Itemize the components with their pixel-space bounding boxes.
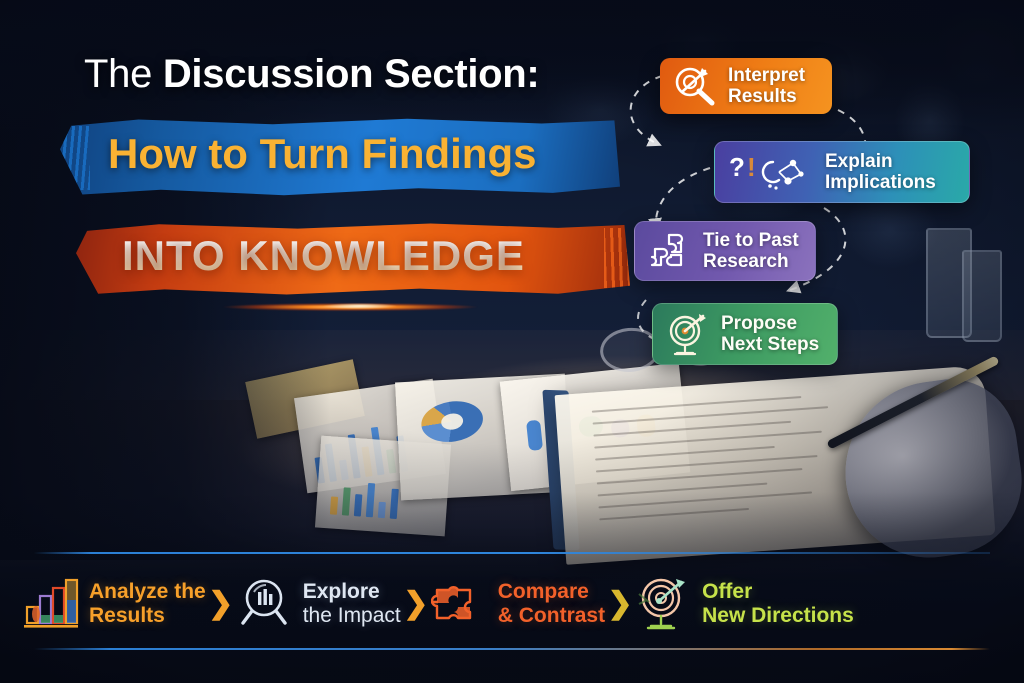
flow-card-explain-implications[interactable]: ? ! Explain Implications — [714, 141, 970, 203]
flow-card-line1: Tie to Past — [703, 230, 799, 251]
puzzle-pieces-icon — [647, 229, 693, 273]
step-analyze-the-results[interactable]: Analyze the Results — [22, 574, 206, 634]
step-separator-chevron: ❯ — [401, 589, 431, 619]
title-discussion-section: Discussion Section: — [163, 52, 540, 96]
puzzle-icon — [431, 574, 489, 634]
bar-chart-icon — [22, 574, 80, 634]
question-exclamation-network-icon: ? ! — [727, 150, 815, 194]
step-line1: Compare — [498, 580, 605, 604]
flow-card-line1: Interpret — [728, 65, 805, 86]
target-arrow-icon — [635, 574, 693, 634]
step-separator-chevron: ❯ — [206, 589, 236, 619]
process-step-bar: Analyze the Results ❯ Explore the Imp — [22, 562, 1006, 646]
step-line1: Offer — [702, 580, 854, 604]
magnifier-bars-icon — [236, 574, 294, 634]
step-line1: Analyze the — [89, 580, 206, 604]
flow-card-interpret-results[interactable]: Interpret Results — [660, 58, 832, 114]
target-magnifier-icon — [672, 64, 718, 108]
title-word-the: The — [84, 52, 163, 96]
divider-top — [34, 552, 990, 554]
flow-card-line1: Explain — [825, 151, 936, 172]
flow-card-line2: Research — [703, 251, 799, 272]
flow-card-line2: Implications — [825, 172, 936, 193]
flow-card-line1: Propose — [721, 313, 819, 334]
ember-core-glow — [300, 299, 420, 313]
flow-card-tie-to-past-research[interactable]: Tie to Past Research — [634, 221, 816, 281]
page-title-line2: How to Turn Findings — [108, 130, 536, 178]
divider-bottom — [34, 648, 990, 650]
step-explore-the-impact[interactable]: Explore the Impact — [236, 574, 401, 634]
flow-card-propose-next-steps[interactable]: Propose Next Steps — [652, 303, 838, 365]
poster-canvas: The Discussion Section: How to Turn Find… — [0, 0, 1024, 683]
flow-card-line2: Next Steps — [721, 334, 819, 355]
step-line2: & Contrast — [498, 604, 605, 628]
step-compare-and-contrast[interactable]: Compare & Contrast — [431, 574, 605, 634]
step-line2: the Impact — [303, 604, 401, 628]
step-separator-chevron: ❯ — [605, 589, 635, 619]
flow-card-line2: Results — [728, 86, 805, 107]
step-line1: Explore — [303, 580, 401, 604]
page-title-line3: INTO KNOWLEDGE — [122, 232, 525, 280]
step-offer-new-directions[interactable]: Offer New Directions — [635, 574, 854, 634]
step-line2: Results — [89, 604, 206, 628]
page-title-line1: The Discussion Section: — [84, 52, 539, 97]
svg-text:?: ? — [729, 152, 745, 182]
svg-text:!: ! — [747, 152, 756, 182]
bullseye-target-icon — [665, 312, 711, 356]
step-line2: New Directions — [702, 604, 854, 628]
